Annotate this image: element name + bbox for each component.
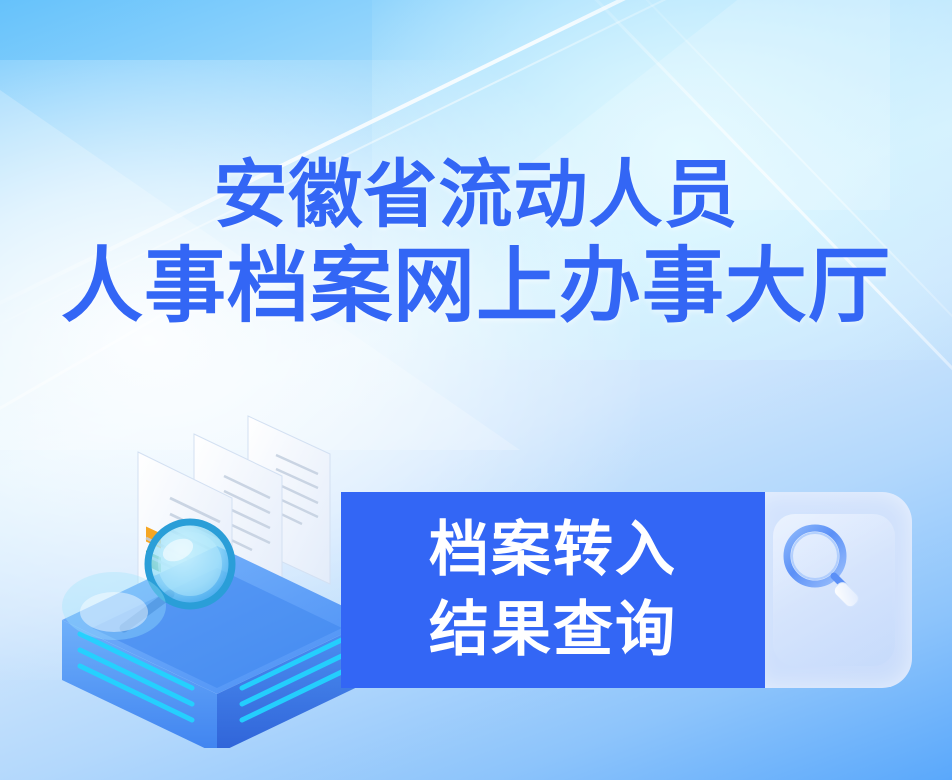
background-facet-left (0, 90, 520, 450)
banner-root: 安徽省流动人员 人事档案网上办事大厅 (0, 0, 952, 780)
background-facet-right (470, 0, 890, 210)
page-title: 安徽省流动人员 人事档案网上办事大厅 (0, 152, 952, 334)
magnifier-icon (775, 518, 871, 618)
background-glow-top-right (372, 0, 952, 360)
card-body[interactable]: 档案转入 结果查询 (341, 492, 765, 688)
card-label-line-2: 结果查询 (429, 590, 677, 670)
background-streak-4 (599, 0, 952, 412)
page-title-line-2: 人事档案网上办事大厅 (0, 240, 952, 334)
background-streak-1 (0, 0, 948, 334)
background-streak-3 (558, 0, 952, 509)
archive-transfer-result-card[interactable]: 档案转入 结果查询 (341, 492, 912, 688)
card-icon-panel (755, 492, 912, 688)
card-label-line-1: 档案转入 (429, 510, 677, 590)
page-title-line-1: 安徽省流动人员 (0, 152, 952, 238)
archive-illustration (42, 398, 392, 748)
background-streak-2 (0, 0, 858, 354)
